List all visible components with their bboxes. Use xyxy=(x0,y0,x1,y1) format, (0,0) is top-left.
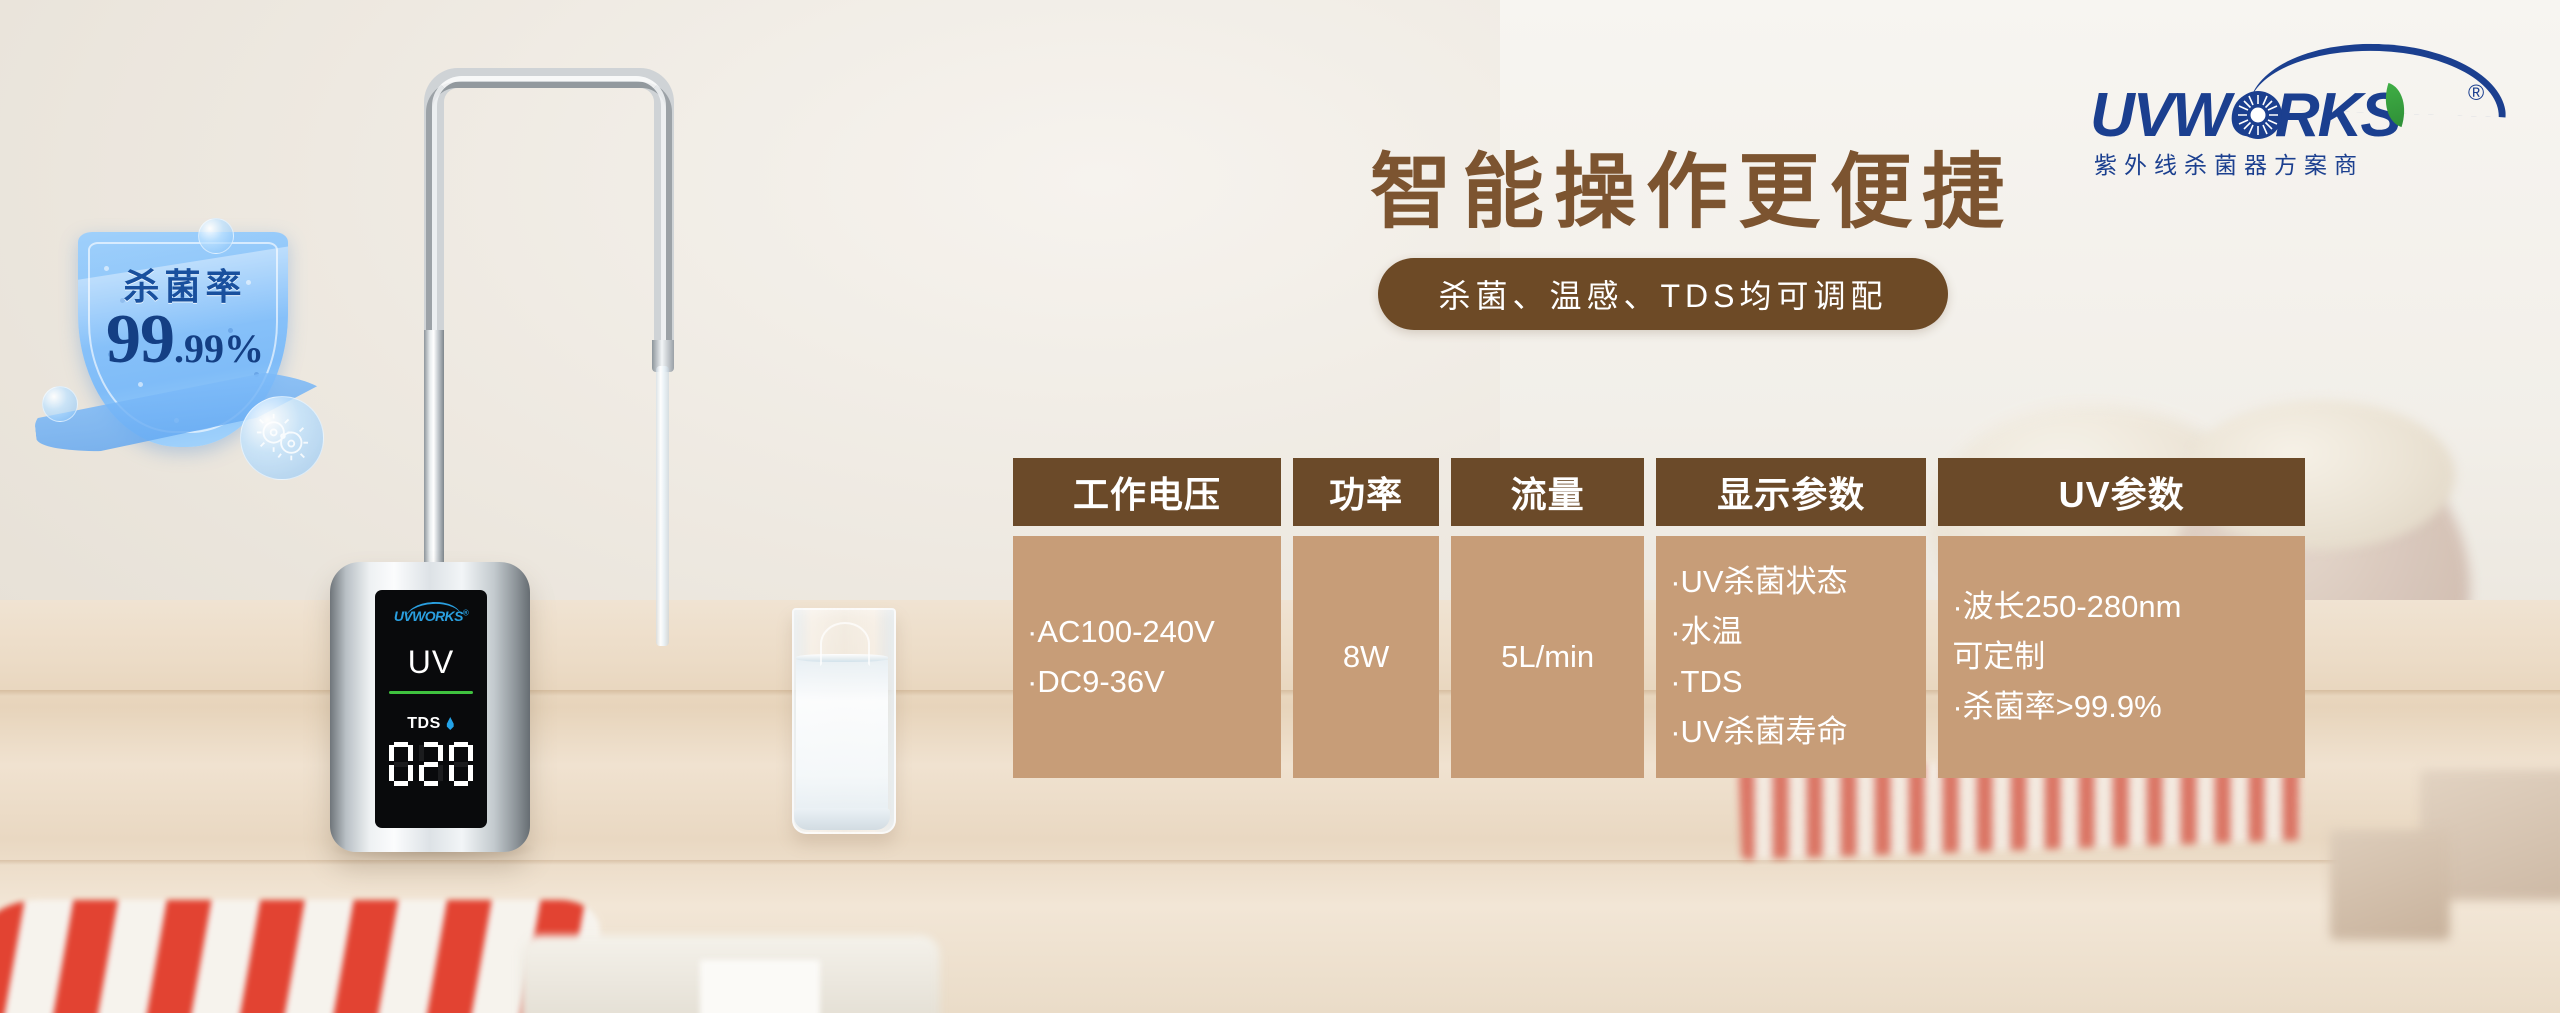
device-logo: UVWORKS® xyxy=(375,608,487,624)
water-stream xyxy=(656,366,669,646)
logo-registered-mark: ® xyxy=(2468,80,2484,106)
red-checkered-cloth-decor xyxy=(0,900,600,1013)
spec-header: UV参数 xyxy=(1938,458,2305,526)
badge-percentage-minor: .99% xyxy=(174,326,264,371)
spec-value: 5L/min xyxy=(1501,632,1594,682)
sterilization-rate-badge: 杀菌率 99.99% xyxy=(40,190,340,490)
spec-item: ·TDS xyxy=(1670,657,1847,707)
spec-value: 8W xyxy=(1343,632,1390,682)
spec-header: 显示参数 xyxy=(1656,458,1926,526)
spec-header: 工作电压 xyxy=(1013,458,1281,526)
spec-item: ·波长250-280nm xyxy=(1952,582,2181,632)
water-bubble-icon-2 xyxy=(42,386,78,422)
countertop-edge-line-2 xyxy=(0,860,2560,865)
water-bubble-icon xyxy=(198,218,234,254)
spec-column-working-voltage: 工作电压 ·AC100-240V ·DC9-36V xyxy=(1013,458,1281,778)
spec-body: ·AC100-240V ·DC9-36V xyxy=(1013,536,1281,778)
seven-segment-digit xyxy=(449,742,473,786)
product-banner: 杀菌率 99.99% UVWORKS® UV TD xyxy=(0,0,2560,1013)
device-metric-text: TDS xyxy=(407,715,441,732)
brand-logo: UVWORKS ® 紫外线杀菌器方案商 xyxy=(2090,42,2510,162)
spec-item: ·AC100-240V xyxy=(1027,607,1215,657)
sunburst-icon xyxy=(2232,89,2284,141)
device-logo-text: UVWORKS xyxy=(394,608,463,624)
seven-segment-digit xyxy=(389,742,413,786)
device-logo-registered-mark: ® xyxy=(463,608,468,617)
spec-column-display-parameters: 显示参数 ·UV杀菌状态 ·水温 ·TDS ·UV杀菌寿命 xyxy=(1656,458,1926,778)
feature-pill: 杀菌、温感、TDS均可调配 xyxy=(1378,258,1948,330)
badge-percentage: 99.99% xyxy=(40,300,330,380)
spec-item: ·UV杀菌寿命 xyxy=(1670,707,1847,757)
logo-wordmark: UVWORKS xyxy=(2090,80,2510,151)
spec-body: ·波长250-280nm 可定制 ·杀菌率>99.9% xyxy=(1938,536,2305,778)
spec-header: 功率 xyxy=(1293,458,1439,526)
spec-column-uv-parameters: UV参数 ·波长250-280nm 可定制 ·杀菌率>99.9% xyxy=(1938,458,2305,778)
seven-segment-digit xyxy=(419,742,443,786)
feature-pill-label: 杀菌、温感、TDS均可调配 xyxy=(1438,271,1887,317)
device-mode-label: UV xyxy=(375,644,487,681)
spec-item: ·DC9-36V xyxy=(1027,657,1215,707)
spec-header: 流量 xyxy=(1451,458,1644,526)
glass-base xyxy=(794,808,890,830)
spec-body: ·UV杀菌状态 ·水温 ·TDS ·UV杀菌寿命 xyxy=(1656,536,1926,778)
page-title: 智能操作更便捷 xyxy=(1370,125,2014,244)
spec-column-power: 功率 8W xyxy=(1293,458,1439,778)
water-drop-icon xyxy=(446,717,455,730)
spec-item: ·杀菌率>99.9% xyxy=(1952,682,2181,732)
wooden-block-decor-2 xyxy=(2330,830,2450,940)
device-reading xyxy=(375,742,487,786)
device-display-screen: UVWORKS® UV TDS xyxy=(375,590,487,828)
faucet-arm-highlight xyxy=(432,76,666,366)
spec-table: 工作电压 ·AC100-240V ·DC9-36V 功率 8W 流量 5L/mi… xyxy=(1013,458,2305,778)
spec-body: 8W xyxy=(1293,536,1439,778)
faucet-column xyxy=(424,330,444,580)
device-metric-label: TDS xyxy=(375,715,487,733)
spec-column-flow-rate: 流量 5L/min xyxy=(1451,458,1644,778)
bacteria-icon xyxy=(254,412,310,464)
glass-water-fill xyxy=(796,660,888,826)
water-splash xyxy=(820,622,870,666)
device-status-bar xyxy=(389,691,473,694)
logo-tagline: 紫外线杀菌器方案商 xyxy=(2094,146,2506,180)
badge-percentage-major: 99 xyxy=(106,301,174,378)
spec-item: ·UV杀菌状态 xyxy=(1670,557,1847,607)
spec-item: ·水温 xyxy=(1670,607,1847,657)
plate-inner-decor xyxy=(700,960,820,1013)
spec-body: 5L/min xyxy=(1451,536,1644,778)
spec-item: 可定制 xyxy=(1952,632,2181,682)
